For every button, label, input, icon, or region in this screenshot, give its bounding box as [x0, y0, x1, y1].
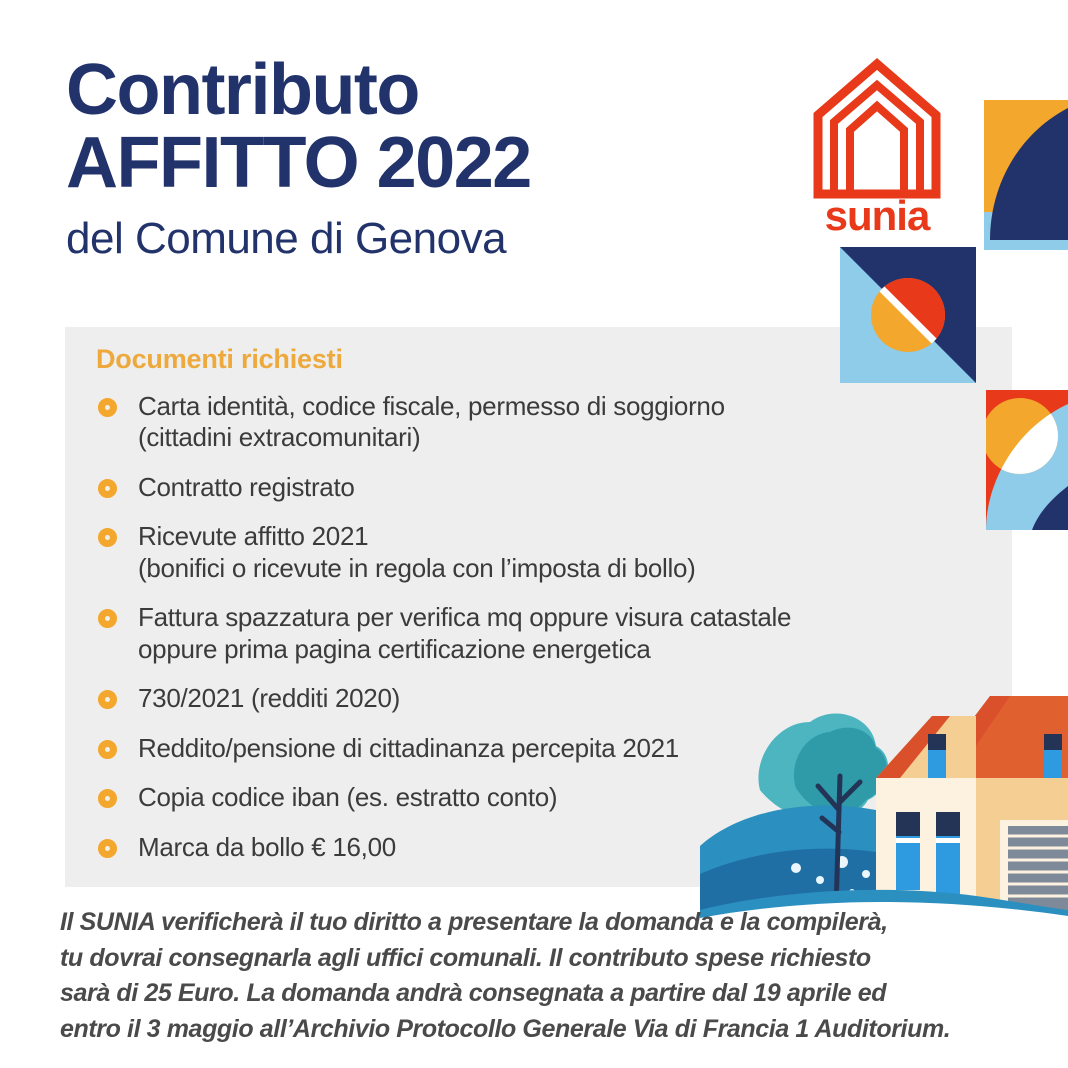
list-item-line2: (bonifici o ricevute in regola con l’imp… — [138, 553, 996, 584]
bullet-ring-icon — [98, 479, 117, 498]
svg-text:sunia: sunia — [825, 192, 931, 232]
bullet-ring-icon — [98, 789, 117, 808]
list-item-line1: Reddito/pensione di cittadinanza percepi… — [138, 733, 679, 763]
list-item-line1: Marca da bollo € 16,00 — [138, 832, 396, 862]
footer-line: entro il 3 maggio all’Archivio Protocoll… — [60, 1012, 1020, 1048]
decoration-bottom-right — [986, 390, 1068, 530]
list-item-line1: Contratto registrato — [138, 472, 355, 502]
bullet-ring-icon — [98, 528, 117, 547]
bullet-ring-icon — [98, 690, 117, 709]
documents-list: Carta identità, codice fiscale, permesso… — [96, 391, 996, 863]
bullet-ring-icon — [98, 398, 117, 417]
documents-content: Documenti richiesti Carta identità, codi… — [96, 344, 996, 881]
decoration-top-right — [984, 100, 1068, 250]
bullet-ring-icon — [98, 839, 117, 858]
footer-line: sarà di 25 Euro. La domanda andrà conseg… — [60, 976, 1020, 1012]
list-item-line1: Fattura spazzatura per verifica mq oppur… — [138, 602, 791, 632]
footer-line: Il SUNIA verificherà il tuo diritto a pr… — [60, 905, 1020, 941]
list-item-line2: oppure prima pagina certificazione energ… — [138, 634, 996, 665]
list-item-line1: Copia codice iban (es. estratto conto) — [138, 782, 557, 812]
sunia-logo: sunia — [808, 52, 958, 232]
footer-line: tu dovrai consegnarla agli uffici comuna… — [60, 941, 1020, 977]
bullet-ring-icon — [98, 740, 117, 759]
list-item: Copia codice iban (es. estratto conto) — [96, 782, 996, 813]
list-item: Carta identità, codice fiscale, permesso… — [96, 391, 996, 454]
list-item: Fattura spazzatura per verifica mq oppur… — [96, 602, 996, 665]
house-outline-icon: sunia — [808, 52, 958, 232]
list-item-line1: Ricevute affitto 2021 — [138, 521, 368, 551]
documents-heading: Documenti richiesti — [96, 344, 996, 375]
list-item: 730/2021 (redditi 2020) — [96, 683, 996, 714]
bullet-ring-icon — [98, 609, 117, 628]
list-item-line1: Carta identità, codice fiscale, permesso… — [138, 391, 725, 421]
list-item: Reddito/pensione di cittadinanza percepi… — [96, 733, 996, 764]
list-item: Ricevute affitto 2021 (bonifici o ricevu… — [96, 521, 996, 584]
page-subtitle: del Comune di Genova — [66, 216, 686, 262]
footer-note: Il SUNIA verificherà il tuo diritto a pr… — [60, 905, 1020, 1047]
page-header: Contributo AFFITTO 2022 del Comune di Ge… — [66, 56, 686, 262]
list-item: Marca da bollo € 16,00 — [96, 832, 996, 863]
page-title-line1: Contributo — [66, 56, 686, 125]
list-item: Contratto registrato — [96, 472, 996, 503]
poster-root: Contributo AFFITTO 2022 del Comune di Ge… — [0, 0, 1068, 1068]
list-item-line1: 730/2021 (redditi 2020) — [138, 683, 400, 713]
list-item-line2: (cittadini extracomunitari) — [138, 422, 996, 453]
page-title-line2: AFFITTO 2022 — [66, 129, 686, 198]
